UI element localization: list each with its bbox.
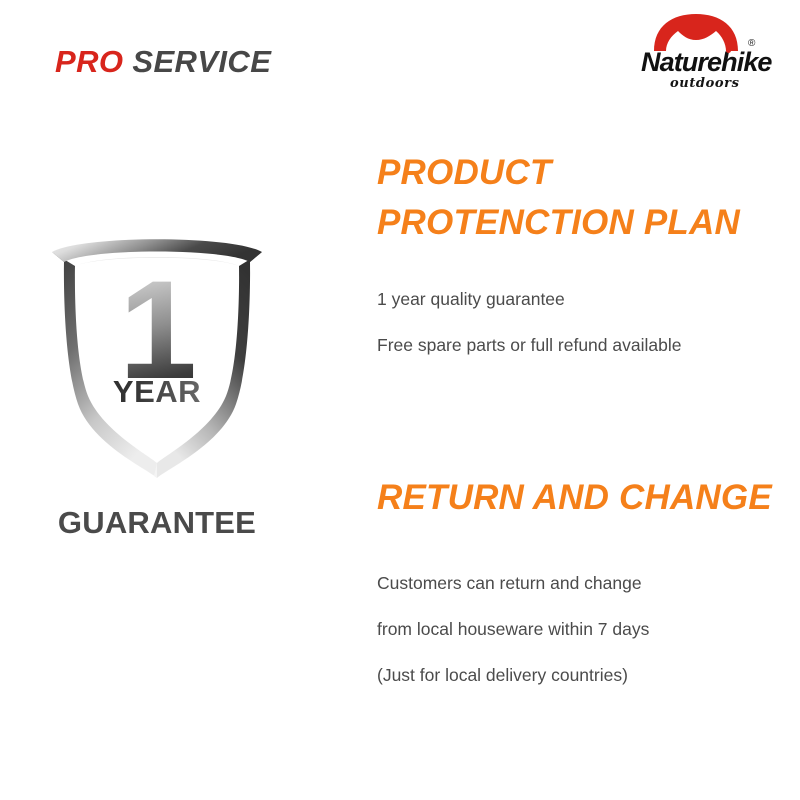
brand-i-dot (726, 48, 731, 53)
page-title-pro: PRO (55, 44, 123, 79)
return-change-points: Customers can return and change from loc… (377, 560, 787, 698)
list-item: 1 year quality guarantee (377, 276, 777, 322)
guarantee-badge: 1 YEAR (42, 238, 272, 483)
return-change-section: RETURN AND CHANGE Customers can return a… (377, 478, 787, 698)
brand-logo: Naturehike ® outdoors (640, 14, 765, 102)
brand-wordmark: Naturehike (641, 47, 772, 78)
promo-banner: PRO SERVICE Naturehike ® outdoors (0, 0, 800, 800)
brand-tagline: outdoors (670, 76, 740, 91)
list-item: (Just for local delivery countries) (377, 652, 787, 698)
registered-trademark-icon: ® (748, 38, 755, 49)
protection-plan-heading-line1: PRODUCT (377, 148, 777, 198)
page-title-service: SERVICE (132, 44, 271, 79)
page-title: PRO SERVICE (55, 44, 271, 80)
protection-plan-points: 1 year quality guarantee Free spare part… (377, 276, 777, 368)
list-item: Customers can return and change (377, 560, 787, 606)
list-item: Free spare parts or full refund availabl… (377, 322, 777, 368)
protection-plan-section: PRODUCT PROTENCTION PLAN 1 year quality … (377, 148, 777, 368)
badge-caption: GUARANTEE (42, 505, 272, 541)
list-item: from local houseware within 7 days (377, 606, 787, 652)
return-change-heading: RETURN AND CHANGE (377, 478, 787, 518)
protection-plan-heading-line2: PROTENCTION PLAN (377, 198, 777, 248)
badge-unit: YEAR (42, 376, 272, 407)
